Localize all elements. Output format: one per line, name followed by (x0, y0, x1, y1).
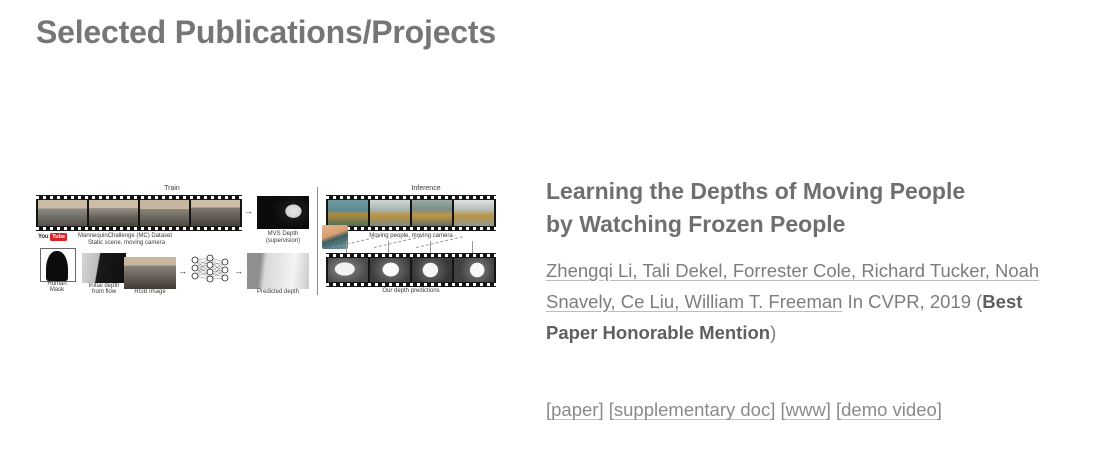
frame-crowd-3 (140, 200, 189, 226)
human-mask-box (40, 248, 76, 282)
filmstrip-inference-depth (326, 253, 496, 287)
frame-crowd-2 (89, 200, 138, 226)
figure-label-inference: Inference (381, 185, 471, 192)
initial-depth-box (82, 253, 126, 283)
mvs-depth-thumbnail (257, 196, 309, 229)
figure-label-train: Train (132, 185, 212, 192)
publication-title: Learning the Depths of Moving People by … (546, 175, 1056, 240)
frame-crowd-4 (191, 200, 240, 226)
arrow-to-network: → (178, 267, 187, 276)
page-title: Selected Publications/Projects (36, 14, 496, 51)
frame-depth-3 (412, 258, 452, 282)
connector-tick-4 (472, 241, 473, 253)
bracket-close-supplementary: ] (770, 399, 775, 420)
filmstrip-inference-rgb (326, 195, 496, 231)
resource-link-supplementary[interactable]: supplementary doc (614, 399, 770, 420)
resource-link-supplementary-group: [supplementary doc] (609, 399, 776, 420)
figure-canvas: Train Inference You Tube MannequinC (36, 185, 496, 300)
filmstrip-frames (38, 200, 240, 226)
frame-room-3 (412, 200, 452, 226)
predicted-depth-box (247, 253, 309, 289)
resource-link-paper-group: [paper] (546, 399, 604, 420)
resource-links: [paper] [supplementary doc] [www] [demo … (546, 396, 1056, 424)
frame-crowd-1 (38, 200, 87, 226)
figure-label-dataset-sub: Static scene, moving camera (88, 240, 228, 246)
resource-link-www-group: [www] (780, 399, 830, 420)
figure-label-dataset: MannequinChallenge (MC) Dataset (78, 233, 228, 239)
frame-room-1 (328, 200, 368, 226)
figure-label-our-predictions: Our depth predictions (346, 288, 476, 294)
human-mask-silhouette (46, 251, 68, 281)
bracket-close-demo-video: ] (937, 399, 942, 420)
filmstrip-frames-rgb (328, 200, 494, 226)
frame-room-2 (370, 200, 410, 226)
rgb-image-box (124, 257, 176, 289)
figure-label-mvs-depth-sub: (supervision) (255, 238, 311, 244)
bracket-close-paper: ] (598, 399, 603, 420)
frame-depth-1 (328, 258, 368, 282)
arrow-to-mvs-depth: → (244, 207, 253, 216)
frame-depth-4 (454, 258, 494, 282)
youtube-logo: You Tube (38, 233, 67, 241)
publication-meta: Zhengqi Li, Tali Dekel, Forrester Cole, … (546, 256, 1056, 348)
publication-details: Learning the Depths of Moving People by … (546, 175, 1056, 424)
figure-label-predicted-depth: Predicted depth (243, 289, 313, 295)
venue-suffix: ) (770, 322, 776, 343)
resource-link-paper[interactable]: paper (551, 399, 598, 420)
resource-link-demo-video-group: [demo video] (836, 399, 942, 420)
figure-label-rgb-image: RGB Image (124, 289, 176, 295)
publication-title-line1: Learning the Depths of Moving People (546, 175, 1056, 208)
frame-room-4 (454, 200, 494, 226)
publication-teaser-figure[interactable]: Train Inference You Tube MannequinC (36, 185, 496, 300)
filmstrip-mannequin-challenge (36, 195, 242, 231)
venue-prefix: In CVPR, 2019 ( (848, 291, 983, 312)
figure-divider (317, 187, 318, 295)
filmstrip-frames-depth (328, 258, 494, 282)
resource-link-www[interactable]: www (786, 399, 826, 420)
publication-title-line2: by Watching Frozen People (546, 208, 1056, 241)
figure-label-human-mask: Human Mask (35, 281, 79, 294)
frame-depth-2 (370, 258, 410, 282)
youtube-wordmark: You (38, 234, 48, 240)
figure-label-mvs-depth: MVS Depth (255, 231, 311, 237)
arrow-to-predicted-depth: → (234, 267, 243, 276)
publication-entry: Train Inference You Tube MannequinC (0, 85, 1118, 425)
neural-network-icon (188, 253, 232, 287)
youtube-badge: Tube (50, 233, 67, 241)
bracket-close-www: ] (826, 399, 831, 420)
resource-link-demo-video[interactable]: demo video (841, 399, 937, 420)
